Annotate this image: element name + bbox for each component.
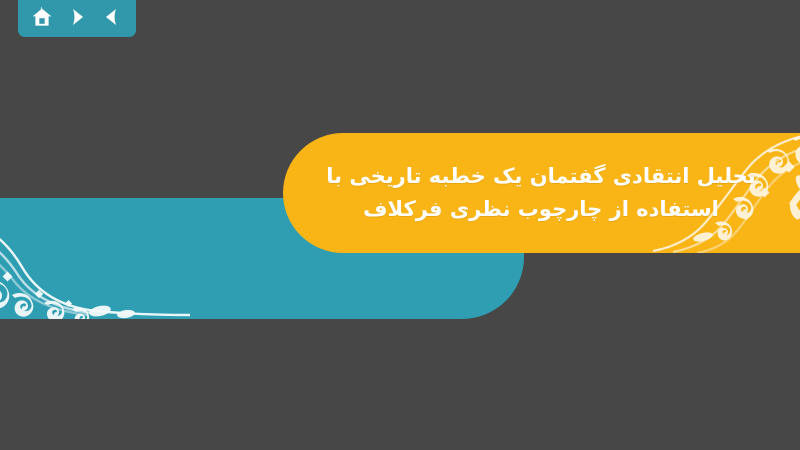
previous-slide-button[interactable] — [97, 3, 127, 31]
triangle-left-icon — [102, 7, 122, 27]
home-button[interactable] — [27, 3, 57, 31]
triangle-right-icon — [67, 7, 87, 27]
title-banner: تحلیل انتقادی گفتمان یک خطبه تاریخی با ا… — [283, 133, 800, 253]
page-title: تحلیل انتقادی گفتمان یک خطبه تاریخی با ا… — [326, 160, 756, 225]
home-icon — [31, 6, 53, 28]
arabesque-ornament-icon — [0, 199, 190, 319]
slide-navigation-toolbar — [18, 0, 136, 37]
slide-stage: تحلیل انتقادی گفتمان یک خطبه تاریخی با ا… — [0, 0, 800, 450]
next-slide-button[interactable] — [62, 3, 92, 31]
